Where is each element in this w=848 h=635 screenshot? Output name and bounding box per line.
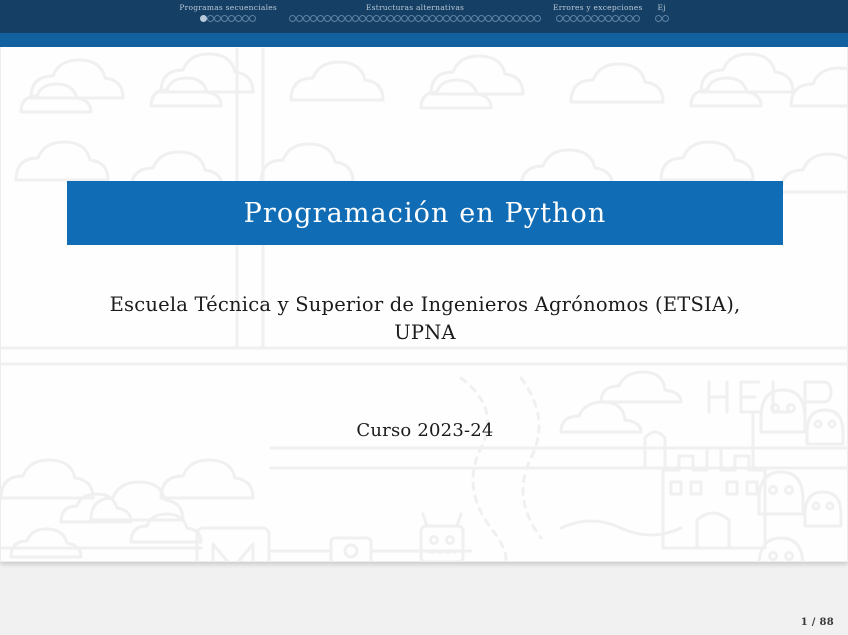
nav-frame-dot[interactable] [228,15,235,22]
nav-frame-dot[interactable] [450,15,457,22]
nav-frame-dot[interactable] [612,15,619,22]
nav-frame-dot[interactable] [387,15,394,22]
nav-frame-dot[interactable] [506,15,513,22]
nav-section-label: Estructuras alternativas [366,3,464,13]
institution-line-1: Escuela Técnica y Superior de Ingenieros… [65,291,785,319]
nav-frame-dot[interactable] [338,15,345,22]
nav-frame-dot[interactable] [373,15,380,22]
nav-frame-dot[interactable] [415,15,422,22]
nav-frame-dot[interactable] [443,15,450,22]
page-counter: 1 / 88 [801,617,834,628]
nav-frame-dot[interactable] [598,15,605,22]
nav-frame-dot[interactable] [331,15,338,22]
nav-frame-dot[interactable] [534,15,541,22]
nav-frame-dot[interactable] [207,15,214,22]
nav-section-3[interactable]: Ej [649,0,675,22]
nav-frame-dot[interactable] [366,15,373,22]
nav-frame-dot[interactable] [380,15,387,22]
nav-frame-dot[interactable] [401,15,408,22]
nav-section-2[interactable]: Errores y excepciones [547,0,649,22]
course-label: Curso 2023-24 [65,420,785,441]
nav-frame-dot[interactable] [317,15,324,22]
nav-section-dots [289,15,541,22]
navigation-sections: Programas secuencialesEstructuras altern… [0,0,848,33]
nav-frame-dot[interactable] [570,15,577,22]
nav-section-label: Errores y excepciones [553,3,643,13]
nav-frame-dot[interactable] [520,15,527,22]
nav-frame-dot[interactable] [527,15,534,22]
nav-frame-dot[interactable] [619,15,626,22]
nav-frame-dot[interactable] [303,15,310,22]
nav-frame-dot[interactable] [422,15,429,22]
nav-frame-dot[interactable] [457,15,464,22]
nav-frame-dot[interactable] [408,15,415,22]
nav-frame-dot[interactable] [242,15,249,22]
nav-frame-dot[interactable] [359,15,366,22]
nav-frame-dot[interactable] [662,15,669,22]
institution-block: Escuela Técnica y Superior de Ingenieros… [65,291,785,347]
nav-frame-dot[interactable] [221,15,228,22]
nav-frame-dot[interactable] [296,15,303,22]
slide-canvas: Programación en Python Escuela Técnica y… [0,0,848,562]
pdf-viewer: Programación en Python Escuela Técnica y… [0,0,848,635]
nav-frame-dot[interactable] [591,15,598,22]
nav-frame-dot[interactable] [352,15,359,22]
page-title: Programación en Python [244,198,607,229]
nav-section-label: Programas secuenciales [179,3,277,13]
nav-frame-dot[interactable] [478,15,485,22]
nav-frame-dot[interactable] [584,15,591,22]
nav-section-0[interactable]: Programas secuenciales [173,0,283,22]
nav-frame-dot[interactable] [577,15,584,22]
nav-frame-dot[interactable] [563,15,570,22]
nav-section-dots [200,15,256,22]
nav-frame-dot[interactable] [655,15,662,22]
nav-frame-dot[interactable] [200,15,207,22]
nav-frame-dot[interactable] [492,15,499,22]
nav-frame-dot[interactable] [429,15,436,22]
nav-section-1[interactable]: Estructuras alternativas [283,0,547,22]
nav-frame-dot[interactable] [513,15,520,22]
nav-section-dots [655,15,669,22]
nav-section-dots [556,15,640,22]
nav-frame-dot[interactable] [464,15,471,22]
nav-frame-dot[interactable] [345,15,352,22]
nav-frame-dot[interactable] [605,15,612,22]
nav-frame-dot[interactable] [289,15,296,22]
slide-page: Programación en Python Escuela Técnica y… [0,0,848,562]
nav-frame-dot[interactable] [214,15,221,22]
nav-frame-dot[interactable] [436,15,443,22]
nav-frame-dot[interactable] [471,15,478,22]
nav-frame-dot[interactable] [499,15,506,22]
nav-frame-dot[interactable] [626,15,633,22]
institution-line-2: UPNA [65,319,785,347]
nav-frame-dot[interactable] [556,15,563,22]
nav-frame-dot[interactable] [249,15,256,22]
navigation-bar-accent-strip [0,33,848,47]
nav-frame-dot[interactable] [394,15,401,22]
nav-frame-dot[interactable] [324,15,331,22]
slide-title-banner: Programación en Python [67,181,783,245]
nav-frame-dot[interactable] [633,15,640,22]
nav-frame-dot[interactable] [310,15,317,22]
beamer-navigation-bar: Programas secuencialesEstructuras altern… [0,0,848,47]
nav-section-label: Ej [658,3,666,13]
nav-frame-dot[interactable] [235,15,242,22]
nav-frame-dot[interactable] [485,15,492,22]
